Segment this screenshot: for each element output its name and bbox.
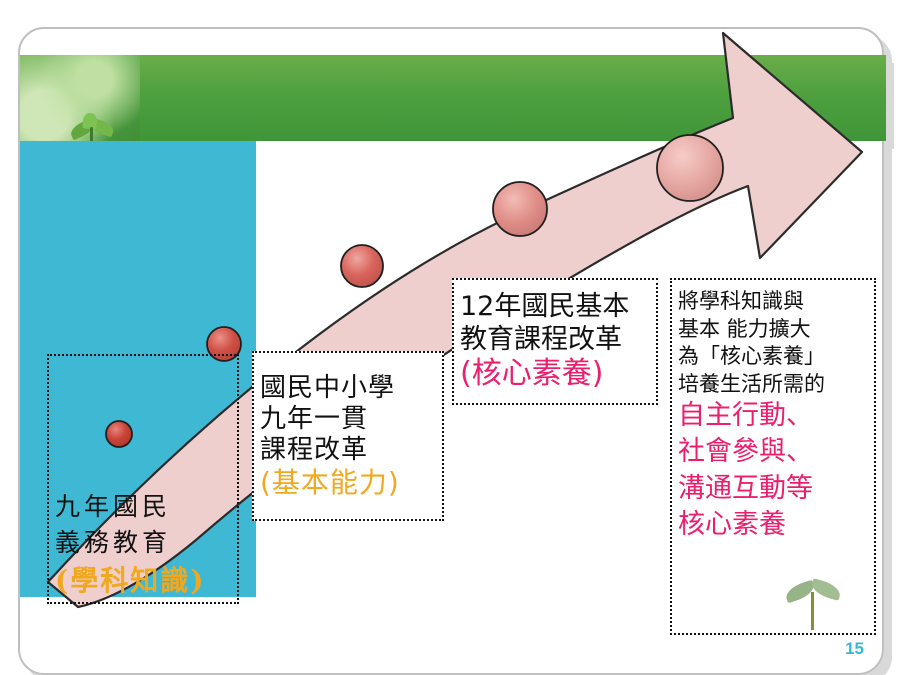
arrow-dot-5 — [657, 135, 723, 201]
grade9-paren: (基本能力) — [260, 467, 436, 498]
grade9-line-3: 課程改革 — [260, 436, 436, 465]
twelve-year-line-1: 12年國民基本 — [460, 292, 650, 322]
page-number: 15 — [845, 639, 864, 659]
grade9-line-2: 九年一貫 — [260, 405, 436, 434]
grade9-line-1: 國民中小學 — [260, 374, 436, 403]
textbox-nine-year-education[interactable]: 九年國民 義務教育 (學科知識) — [47, 354, 239, 604]
core-pink-line-4: 核心素養 — [678, 510, 868, 540]
textbox-12-year-education[interactable]: 12年國民基本 教育課程改革 (核心素養) — [452, 278, 658, 405]
core-black-line-2: 基本 能力擴大 — [678, 318, 868, 342]
twelve-year-line-2: 教育課程改革 — [460, 325, 650, 355]
seedling-icon — [784, 576, 842, 630]
textbox-grade1-9-curriculum[interactable]: 國民中小學 九年一貫 課程改革 (基本能力) — [252, 351, 444, 521]
core-pink-line-3: 溝通互動等 — [678, 474, 868, 504]
core-black-line-1: 將學科知識與 — [678, 290, 868, 314]
nine-year-line-1: 九年國民 — [55, 493, 231, 521]
core-black-line-4: 培養生活所需的 — [678, 373, 868, 397]
twelve-year-paren: (核心素養) — [460, 357, 650, 391]
textbox-core-competence[interactable]: 將學科知識與 基本 能力擴大 為「核心素養」 培養生活所需的 自主行動、 社會參… — [670, 278, 876, 635]
core-pink-line-2: 社會參與、 — [678, 437, 868, 467]
nine-year-line-2: 義務教育 — [55, 529, 231, 557]
core-pink-line-1: 自主行動、 — [678, 401, 868, 431]
core-black-line-3: 為「核心素養」 — [678, 345, 868, 369]
arrow-dot-3 — [341, 245, 383, 287]
slide-canvas: 九年國民 義務教育 (學科知識) 國民中小學 九年一貫 課程改革 (基本能力) … — [0, 0, 900, 675]
arrow-dot-4 — [493, 182, 547, 236]
nine-year-paren: (學科知識) — [55, 565, 231, 596]
